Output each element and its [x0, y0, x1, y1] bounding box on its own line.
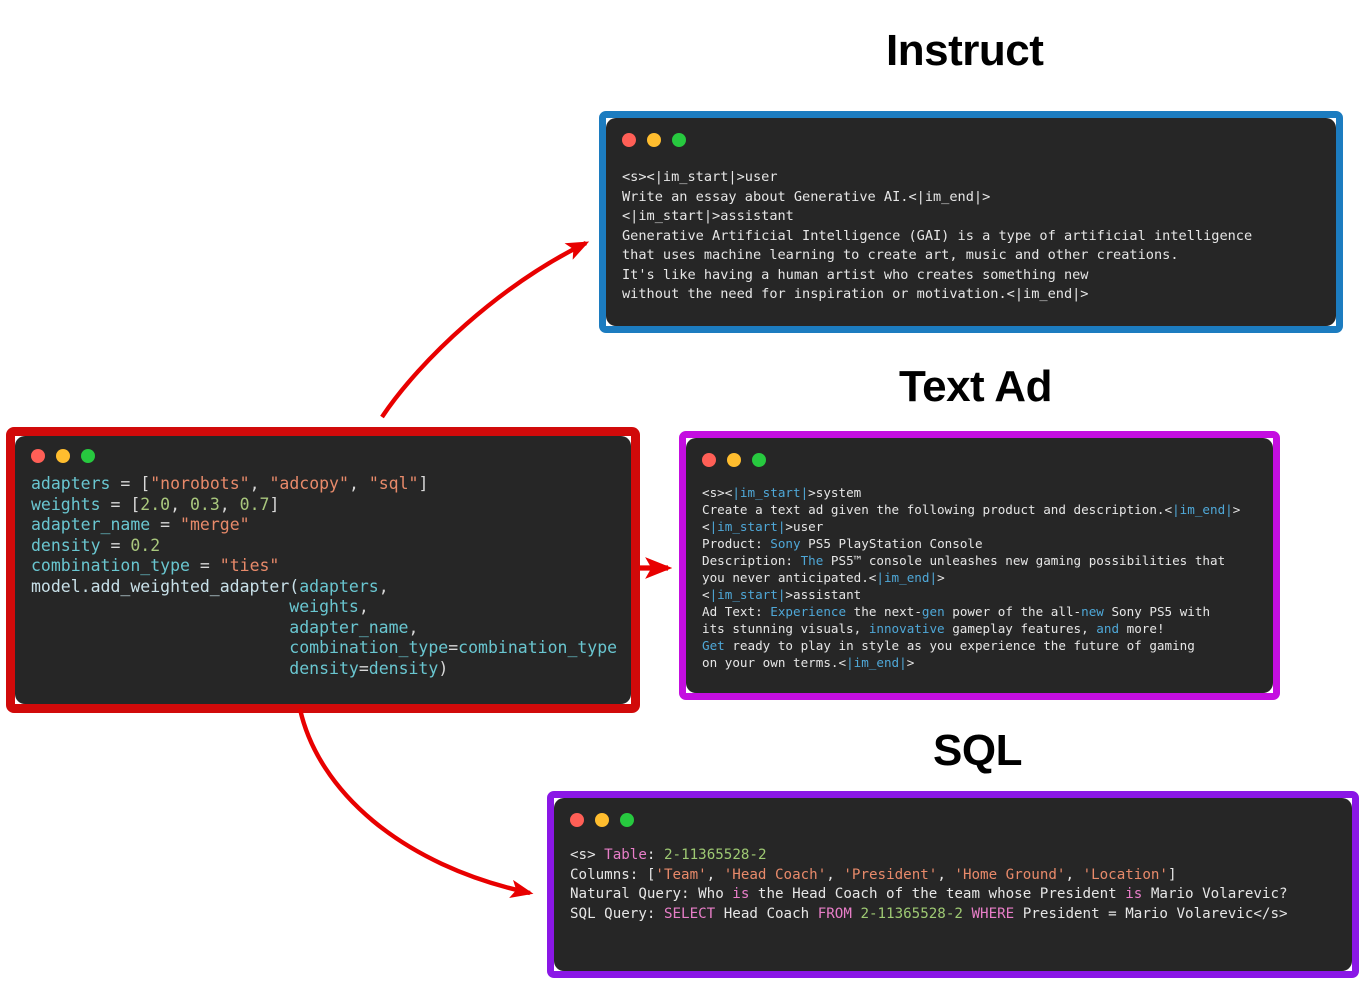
- close-dot-icon[interactable]: [570, 813, 584, 827]
- merge-code-window: adapters = ["norobots", "adcopy", "sql"]…: [6, 427, 640, 713]
- merge-window-body: adapters = ["norobots", "adcopy", "sql"]…: [15, 436, 631, 704]
- sql-window-body: <s> Table: 2-11365528-2 Columns: ['Team'…: [554, 798, 1352, 971]
- maximize-dot-icon[interactable]: [672, 133, 686, 147]
- arrow-merge-to-sql: [300, 709, 530, 893]
- minimize-dot-icon[interactable]: [595, 813, 609, 827]
- sql-code-block: <s> Table: 2-11365528-2 Columns: ['Team'…: [570, 846, 1336, 924]
- arrow-merge-to-instruct: [382, 243, 586, 417]
- maximize-dot-icon[interactable]: [81, 449, 95, 463]
- window-controls-text-ad: [702, 452, 1257, 468]
- section-title-instruct: Instruct: [886, 26, 1043, 76]
- window-controls-merge: [31, 448, 615, 464]
- section-title-text-ad: Text Ad: [899, 362, 1052, 412]
- minimize-dot-icon[interactable]: [56, 449, 70, 463]
- window-controls-instruct: [622, 132, 1320, 148]
- maximize-dot-icon[interactable]: [752, 453, 766, 467]
- sql-window: <s> Table: 2-11365528-2 Columns: ['Team'…: [547, 791, 1359, 978]
- instruct-code-block: <s><|im_start|>user Write an essay about…: [622, 168, 1320, 305]
- merge-code-block: adapters = ["norobots", "adcopy", "sql"]…: [31, 474, 615, 679]
- close-dot-icon[interactable]: [31, 449, 45, 463]
- text-ad-window-body: <s><|im_start|>system Create a text ad g…: [686, 438, 1273, 693]
- minimize-dot-icon[interactable]: [647, 133, 661, 147]
- instruct-window: <s><|im_start|>user Write an essay about…: [599, 111, 1343, 333]
- section-title-sql: SQL: [933, 726, 1022, 776]
- maximize-dot-icon[interactable]: [620, 813, 634, 827]
- text-ad-window: <s><|im_start|>system Create a text ad g…: [679, 431, 1280, 700]
- text-ad-code-block: <s><|im_start|>system Create a text ad g…: [702, 484, 1257, 671]
- minimize-dot-icon[interactable]: [727, 453, 741, 467]
- close-dot-icon[interactable]: [702, 453, 716, 467]
- window-controls-sql: [570, 812, 1336, 828]
- instruct-window-body: <s><|im_start|>user Write an essay about…: [606, 118, 1336, 326]
- close-dot-icon[interactable]: [622, 133, 636, 147]
